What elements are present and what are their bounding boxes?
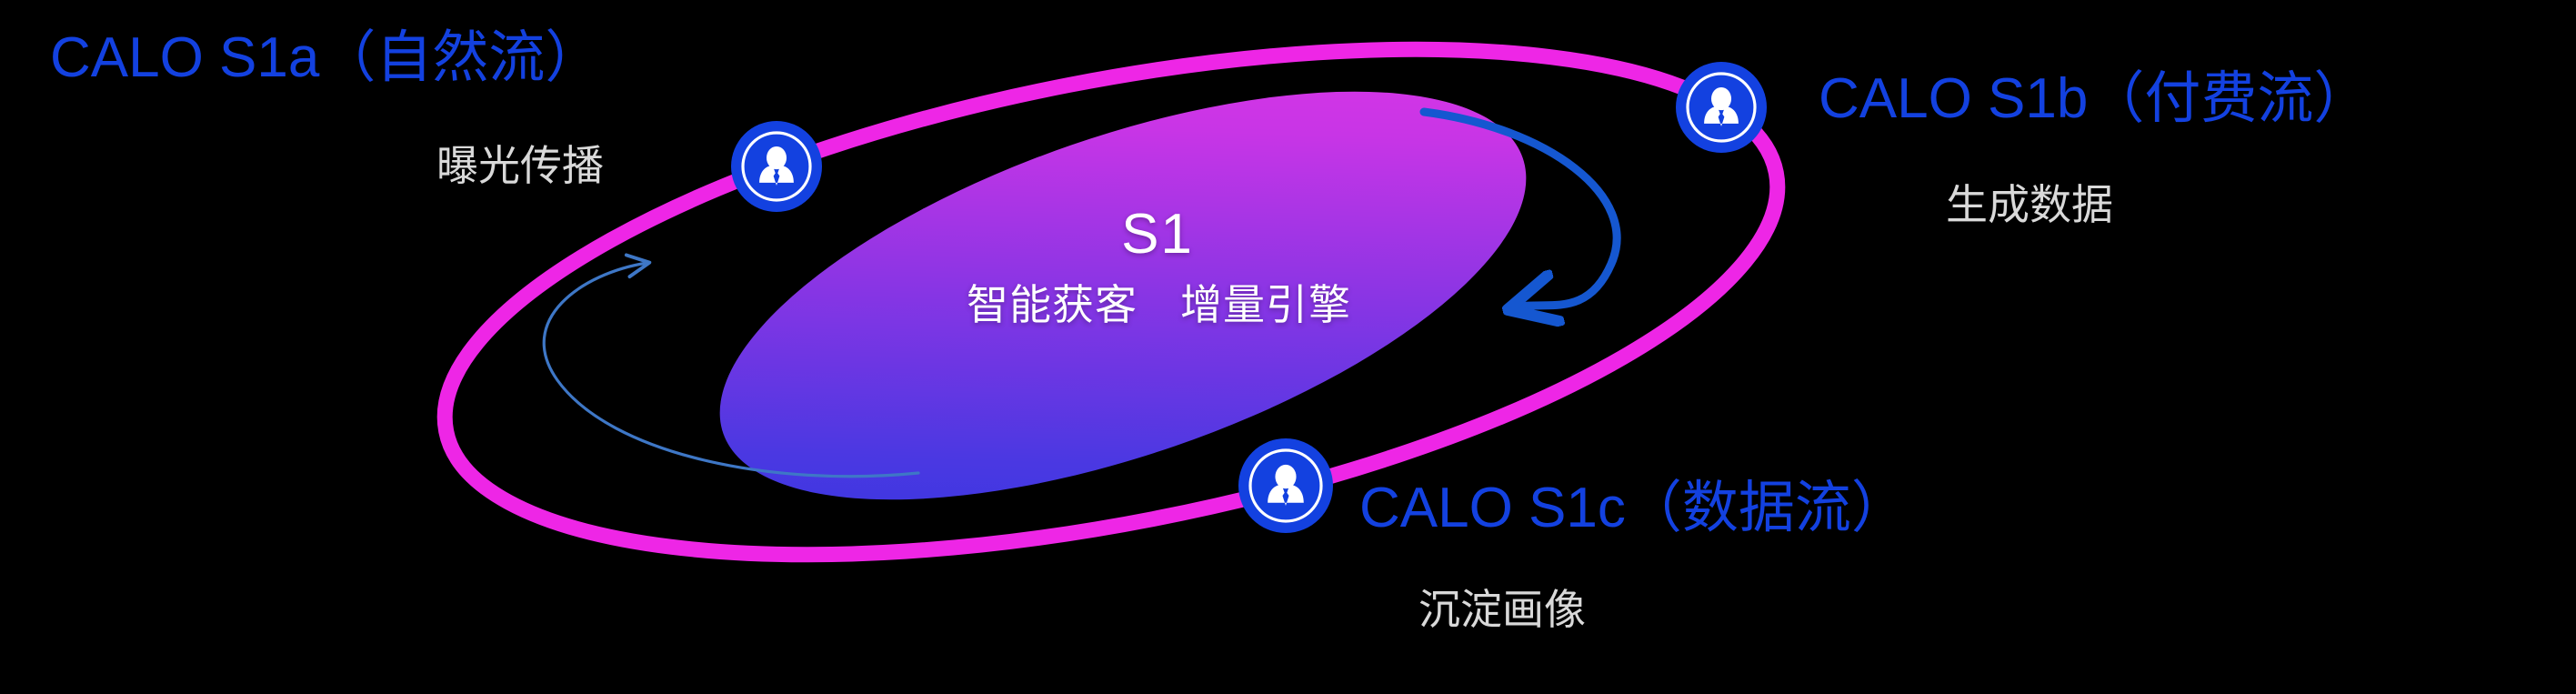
core-title: S1 bbox=[967, 202, 1348, 267]
node-circle-s1c[interactable] bbox=[1238, 438, 1333, 533]
node-circle-s1a[interactable] bbox=[731, 121, 822, 212]
diagram-canvas: S1 智能获客 增量引擎 CALO S1a（自然流） 曝光传播 CALO S1b… bbox=[0, 0, 2576, 694]
node-subtitle-s1b: 生成数据 bbox=[1946, 182, 2113, 228]
node-subtitle-s1a: 曝光传播 bbox=[436, 143, 604, 189]
core-label-group: S1 智能获客 增量引擎 bbox=[967, 202, 1348, 332]
node-title-s1b: CALO S1b（付费流） bbox=[1819, 68, 2370, 130]
node-title-s1c: CALO S1c（数据流） bbox=[1359, 478, 1908, 539]
node-title-s1a: CALO S1a（自然流） bbox=[50, 27, 601, 89]
node-subtitle-s1c: 沉淀画像 bbox=[1418, 587, 1586, 633]
node-circle-s1b[interactable] bbox=[1676, 62, 1767, 153]
core-tagline: 智能获客 增量引擎 bbox=[967, 272, 1348, 332]
